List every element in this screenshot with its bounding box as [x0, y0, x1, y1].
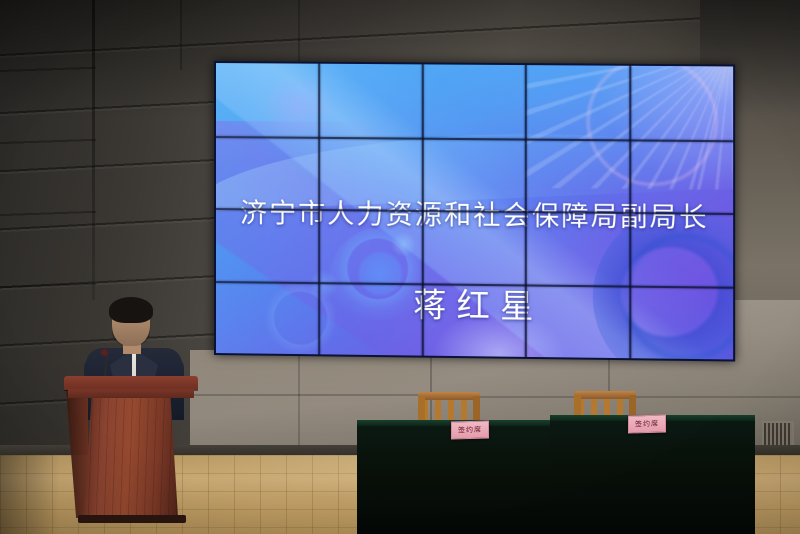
presentation-slide: 济宁市人力资源和社会保障局副局长 蒋红星 — [216, 63, 733, 359]
table-sign-left-text: 签约席 — [458, 425, 482, 436]
table-sign-right[interactable]: 签约席 — [628, 415, 666, 434]
video-wall-frame: 济宁市人力资源和社会保障局副局长 蒋红星 — [214, 61, 735, 362]
floor-shadow-left — [0, 455, 60, 534]
chair-crest-rail — [574, 391, 636, 399]
podium-wood-grain — [84, 397, 178, 517]
video-wall[interactable]: 济宁市人力资源和社会保障局副局长 蒋红星 — [214, 61, 730, 355]
table-sign-left[interactable]: 签约席 — [451, 421, 489, 440]
chair-crest-rail — [418, 392, 480, 400]
podium-lip — [68, 389, 194, 398]
slide-speaker-name: 蒋红星 — [403, 278, 543, 328]
microphone-icon — [101, 349, 108, 356]
table-sign-right-text: 签约席 — [635, 419, 659, 430]
podium-base — [78, 515, 186, 523]
slide-text-block: 济宁市人力资源和社会保障局副局长 蒋红星 — [216, 63, 733, 359]
podium-top — [64, 376, 198, 390]
conference-hall-photo: 济宁市人力资源和社会保障局副局长 蒋红星 — [0, 0, 800, 534]
slide-title: 济宁市人力资源和社会保障局副局长 — [240, 191, 709, 235]
speaker-hair — [109, 297, 153, 323]
